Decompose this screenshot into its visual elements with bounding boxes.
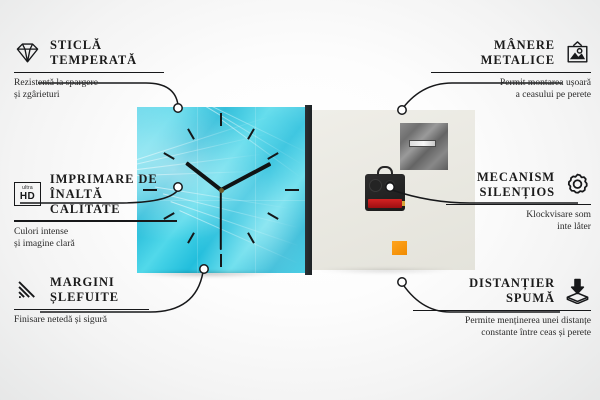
clock-edge	[305, 105, 312, 275]
feature-tempered-glass: STICLĂ TEMPERATĂ Rezistentă la spargere …	[14, 38, 164, 102]
feature-rule	[14, 72, 164, 73]
diamond-icon	[14, 39, 41, 66]
feature-rule	[14, 309, 149, 310]
feature-subtitle: Rezistentă la spargere și zgârieturi	[14, 77, 164, 102]
foam-spacer-pad	[392, 241, 407, 255]
feature-subtitle: Permit montarea ușoară a ceasului pe per…	[431, 77, 591, 102]
feature-high-quality-print: ultra HD IMPRIMARE DE ÎNALTĂ CALITATE Cu…	[14, 172, 177, 251]
clock-hub	[219, 188, 224, 193]
battery	[368, 199, 402, 208]
feature-subtitle: Finisare netedă și sigură	[14, 314, 149, 326]
feature-title: IMPRIMARE DE ÎNALTĂ CALITATE	[50, 172, 177, 216]
foam-spacer-icon	[564, 277, 591, 304]
ultra-hd-icon-bottom: HD	[20, 192, 35, 202]
second-hand	[220, 190, 222, 250]
feature-subtitle: Klockvisare som inte låter	[446, 209, 591, 234]
feature-subtitle: Culori intense și imagine clară	[14, 226, 177, 251]
feature-subtitle: Permite menținerea unei distanțe constan…	[413, 315, 591, 340]
feature-rule	[431, 72, 591, 73]
feature-metal-handles: MÂNERE METALICE Permit montarea ușoară a…	[431, 38, 591, 102]
ultra-hd-icon: ultra HD	[14, 182, 41, 206]
picture-hanger-icon	[564, 39, 591, 66]
feature-rule	[446, 204, 591, 205]
feature-title: MECANISM SILENȚIOS	[477, 170, 555, 200]
gear-icon	[564, 171, 591, 198]
clock-mechanism	[365, 174, 405, 211]
feature-polished-edges: MARGINI ȘLEFUITE Finisare netedă și sigu…	[14, 275, 149, 326]
clock-shadow	[141, 272, 306, 280]
feature-rule	[14, 220, 177, 221]
feature-title: DISTANȚIER SPUMĂ	[469, 276, 555, 306]
feature-title: STICLĂ TEMPERATĂ	[50, 38, 137, 68]
tick-12	[220, 113, 222, 126]
mechanism-dial	[369, 179, 382, 192]
panel-seam	[255, 107, 256, 273]
metal-hanger-plate	[400, 123, 448, 170]
panel-seam	[197, 107, 198, 273]
mechanism-hook	[377, 166, 393, 176]
feature-silent-mechanism: MECANISM SILENȚIOS Klockvisare som inte …	[446, 170, 591, 234]
tick-6	[220, 254, 222, 267]
feature-title: MARGINI ȘLEFUITE	[50, 275, 119, 305]
mechanism-dial-secondary	[385, 180, 395, 190]
feature-foam-spacer: DISTANȚIER SPUMĂ Permite menținerea unei…	[413, 276, 591, 340]
tick-3	[285, 189, 299, 191]
infographic-canvas: STICLĂ TEMPERATĂ Rezistentă la spargere …	[0, 0, 600, 400]
feature-rule	[413, 310, 591, 311]
polished-edges-icon	[14, 276, 41, 303]
feature-title: MÂNERE METALICE	[481, 38, 555, 68]
hanger-slot	[409, 140, 436, 147]
